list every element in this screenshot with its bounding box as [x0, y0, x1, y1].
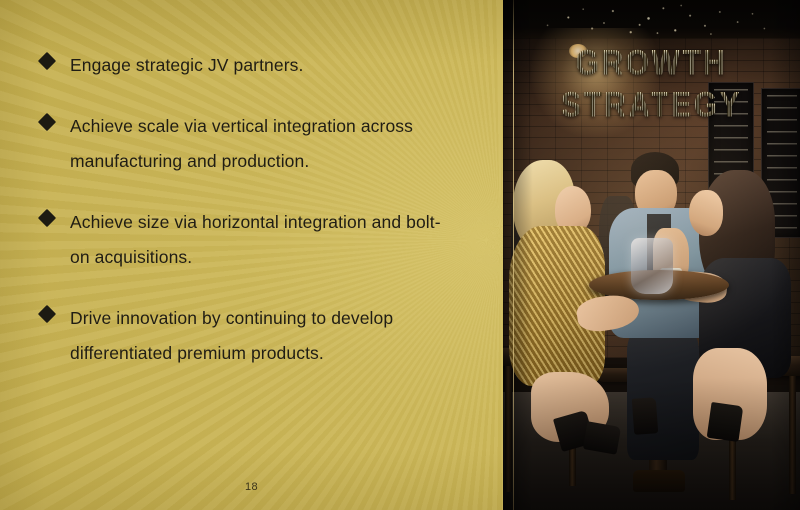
high-heel-shoe — [632, 397, 658, 435]
list-item: Achieve scale via vertical integration a… — [40, 109, 460, 179]
diamond-bullet-icon — [38, 209, 56, 227]
diamond-bullet-icon — [38, 52, 56, 70]
list-item: Engage strategic JV partners. — [40, 48, 460, 83]
ice-bucket — [631, 238, 673, 294]
diamond-bullet-icon — [38, 113, 56, 131]
content-panel: Engage strategic JV partners. Achieve sc… — [0, 0, 503, 510]
presentation-slide: Engage strategic JV partners. Achieve sc… — [0, 0, 800, 510]
bullet-text: Engage strategic JV partners. — [70, 48, 460, 83]
high-heel-shoe — [583, 421, 621, 454]
diamond-bullet-icon — [38, 305, 56, 323]
bar-stool-leg — [505, 366, 512, 492]
bullet-list: Engage strategic JV partners. Achieve sc… — [40, 48, 460, 397]
man-trousers — [627, 330, 699, 460]
high-heel-shoe — [707, 402, 744, 442]
bullet-text: Drive innovation by continuing to develo… — [70, 301, 460, 371]
slide-photo: GROWTH STRATEGY — [503, 0, 800, 510]
bar-stool-leg — [789, 376, 796, 494]
pendant-lamp-glow — [531, 28, 661, 138]
list-item: Drive innovation by continuing to develo… — [40, 301, 460, 371]
brunette-woman-face — [689, 190, 723, 236]
table-base — [633, 470, 685, 492]
pendant-lamp-icon — [569, 44, 587, 58]
bullet-text: Achieve scale via vertical integration a… — [70, 109, 460, 179]
list-item: Achieve size via horizontal integration … — [40, 205, 460, 275]
bullet-text: Achieve size via horizontal integration … — [70, 205, 460, 275]
page-number: 18 — [0, 481, 503, 493]
